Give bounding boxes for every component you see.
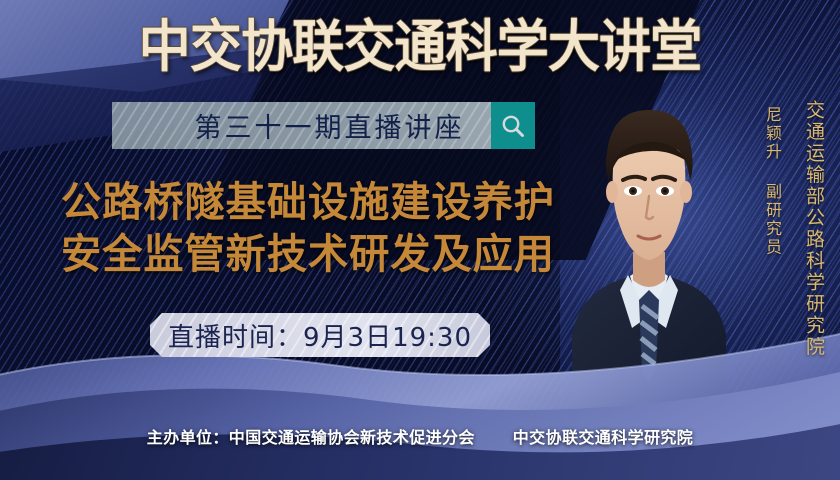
live-time-text: 直播时间：9月3日19:30 — [168, 317, 472, 354]
footer-coorganizer: 中交协联交通科学研究院 — [513, 428, 693, 447]
lecture-headline: 公路桥隧基础设施建设养护 安全监管新技术研发及应用 — [30, 176, 586, 281]
episode-subtitle-body: 第三十一期直播讲座 — [112, 102, 491, 149]
search-icon — [500, 113, 526, 139]
live-time-badge: 直播时间：9月3日19:30 — [150, 313, 490, 357]
speaker-organization: 交通运输部公路科学研究院 — [801, 100, 828, 358]
lecture-headline-line-2: 安全监管新技术研发及应用 — [36, 228, 581, 280]
main-title: 中交协联交通科学大讲堂 — [167, 12, 673, 84]
live-lecture-poster: 中交协联交通科学大讲堂 第三十一期直播讲座 公路桥隧基础设施建设养护 安全监管新… — [0, 0, 840, 480]
lecture-headline-line-1: 公路桥隧基础设施建设养护 — [36, 176, 581, 228]
episode-subtitle-text: 第三十一期直播讲座 — [139, 106, 465, 145]
footer-organizer: 主办单位：中国交通运输协会新技术促进分会 — [147, 428, 475, 447]
search-icon-box[interactable] — [491, 102, 535, 149]
footer-organizers: 主办单位：中国交通运输协会新技术促进分会 中交协联交通科学研究院 — [0, 424, 840, 448]
speaker-name-and-title: 尼颖升 副研究员 — [760, 106, 784, 257]
episode-subtitle-bar: 第三十一期直播讲座 — [112, 102, 535, 149]
